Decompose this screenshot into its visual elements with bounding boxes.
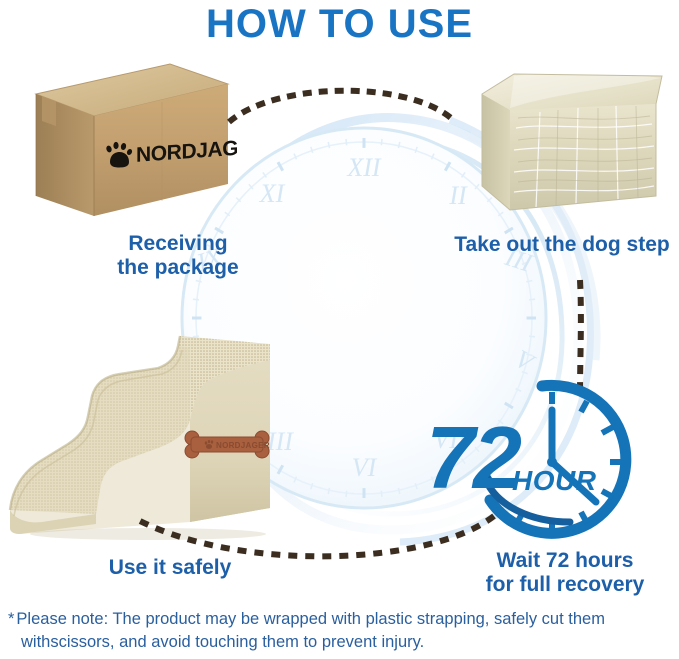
svg-text:VI: VI bbox=[352, 453, 378, 482]
badge-number: 72 bbox=[426, 408, 522, 507]
step-label-receiving: Receiving the package bbox=[78, 232, 278, 279]
footnote: *Please note: The product may be wrapped… bbox=[8, 608, 672, 654]
connector-box-to-wrapped bbox=[225, 72, 455, 132]
svg-text:NORDJAGER: NORDJAGER bbox=[216, 441, 270, 450]
dog-step-photo: NORDJAGER bbox=[8, 332, 298, 540]
badge-unit: HOUR bbox=[512, 465, 597, 496]
footnote-line2: withscissors, and avoid touching them to… bbox=[21, 631, 424, 654]
svg-text:XII: XII bbox=[346, 153, 382, 182]
svg-text:XI: XI bbox=[259, 179, 286, 208]
step-label-use-safely-line1: Use it safely bbox=[70, 556, 270, 580]
step-label-wait-line2: for full recovery bbox=[460, 573, 670, 597]
infographic-canvas: XII II III V VII VI VIII X IX XI HOW TO … bbox=[0, 0, 679, 659]
step-label-use-safely: Use it safely bbox=[70, 556, 270, 580]
vacuum-wrapped-foam-photo bbox=[470, 58, 675, 223]
step-label-receiving-line2: the package bbox=[78, 256, 278, 280]
svg-text:II: II bbox=[448, 181, 468, 210]
footnote-marker: * bbox=[8, 610, 14, 628]
footnote-line1: Please note: The product may be wrapped … bbox=[16, 610, 605, 628]
cardboard-box-photo: NORDJAGER bbox=[22, 56, 237, 224]
clock-72-hour-badge: 72 HOUR bbox=[424, 362, 679, 542]
step-label-receiving-line1: Receiving bbox=[78, 232, 278, 256]
step-label-take-out: Take out the dog step bbox=[445, 233, 679, 257]
step-label-wait-line1: Wait 72 hours bbox=[460, 549, 670, 573]
page-title: HOW TO USE bbox=[0, 2, 679, 47]
step-label-take-out-line1: Take out the dog step bbox=[445, 233, 679, 257]
step-label-wait: Wait 72 hours for full recovery bbox=[460, 549, 670, 596]
